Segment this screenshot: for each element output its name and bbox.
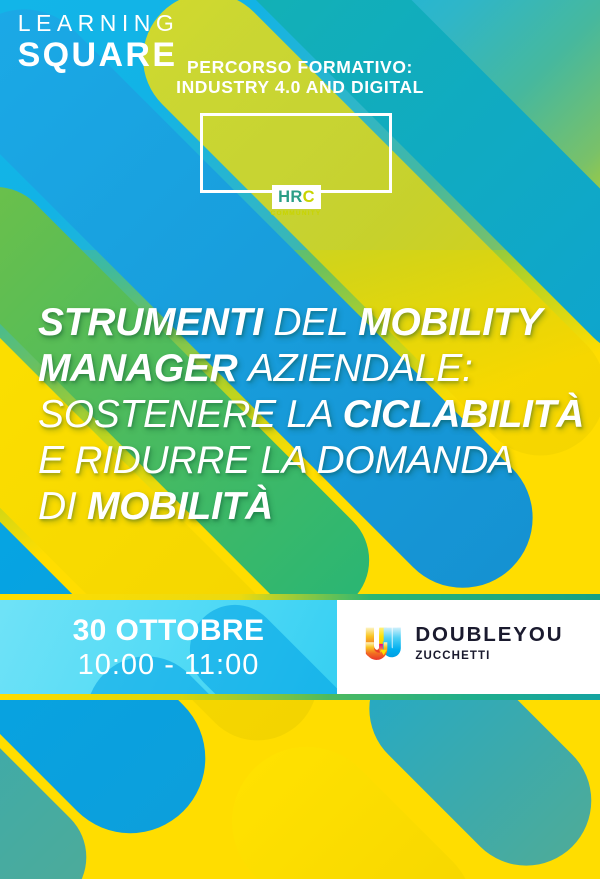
eyebrow-line-1: PERCORSO FORMATIVO:: [187, 57, 413, 77]
sponsor-subtitle: ZUCCHETTI: [415, 650, 490, 662]
headline-run: CICLABILITÀ: [343, 393, 585, 436]
sponsor-name: DOUBLEYOU: [415, 623, 563, 646]
event-poster: PERCORSO FORMATIVO: INDUSTRY 4.0 AND DIG…: [0, 0, 600, 879]
hrc-logo: HRC: [272, 185, 321, 209]
headline-line-4: E RIDURRE LA DOMANDA: [38, 438, 568, 484]
poster-headline: STRUMENTI DEL MOBILITY MANAGER AZIENDALE…: [38, 300, 568, 530]
headline-line-2: MANAGER AZIENDALE:: [38, 346, 568, 392]
event-date: 30 OTTOBRE: [0, 614, 337, 648]
doubleyou-lockup: DOUBLEYOU ZUCCHETTI: [365, 622, 600, 665]
headline-line-3: SOSTENERE LA CICLABILITÀ: [38, 392, 568, 438]
hrc-letters-hr: HR: [278, 188, 302, 207]
event-info-bar: 30 OTTOBRE 10:00 - 11:00: [0, 600, 600, 694]
sponsor-panel: DOUBLEYOU ZUCCHETTI: [337, 600, 600, 694]
date-time-panel: 30 OTTOBRE 10:00 - 11:00: [0, 600, 337, 694]
doubleyou-w-mark-icon: [365, 622, 402, 665]
hrc-letter-c: C: [303, 188, 315, 207]
date-time-text: 30 OTTOBRE 10:00 - 11:00: [0, 614, 337, 682]
headline-run: MOBILITY: [358, 301, 542, 344]
event-time: 10:00 - 11:00: [0, 648, 337, 682]
infobar-bottom-separator: [0, 694, 600, 700]
headline-run: STRUMENTI: [38, 301, 273, 344]
headline-run: AZIENDALE:: [248, 347, 473, 390]
headline-run: MANAGER: [38, 347, 248, 390]
eyebrow-line-2: INDUSTRY 4.0 AND DIGITAL: [0, 77, 600, 97]
headline-line-1: STRUMENTI DEL MOBILITY: [38, 300, 568, 346]
doubleyou-wordmark: DOUBLEYOU ZUCCHETTI: [415, 624, 600, 664]
headline-run: SOSTENERE LA: [38, 393, 343, 436]
logo-word-learning: LEARNING: [0, 10, 192, 36]
headline-run: DI: [38, 485, 87, 528]
headline-run: MOBILITÀ: [87, 485, 273, 528]
headline-run: DEL: [273, 301, 358, 344]
headline-run: E RIDURRE LA DOMANDA: [38, 439, 514, 482]
logo-word-square: SQUARE: [0, 36, 192, 74]
headline-line-5: DI MOBILITÀ: [38, 484, 568, 530]
hrc-tagline: COMMUNITY: [262, 210, 330, 217]
learning-square-logo-box: [200, 113, 392, 193]
